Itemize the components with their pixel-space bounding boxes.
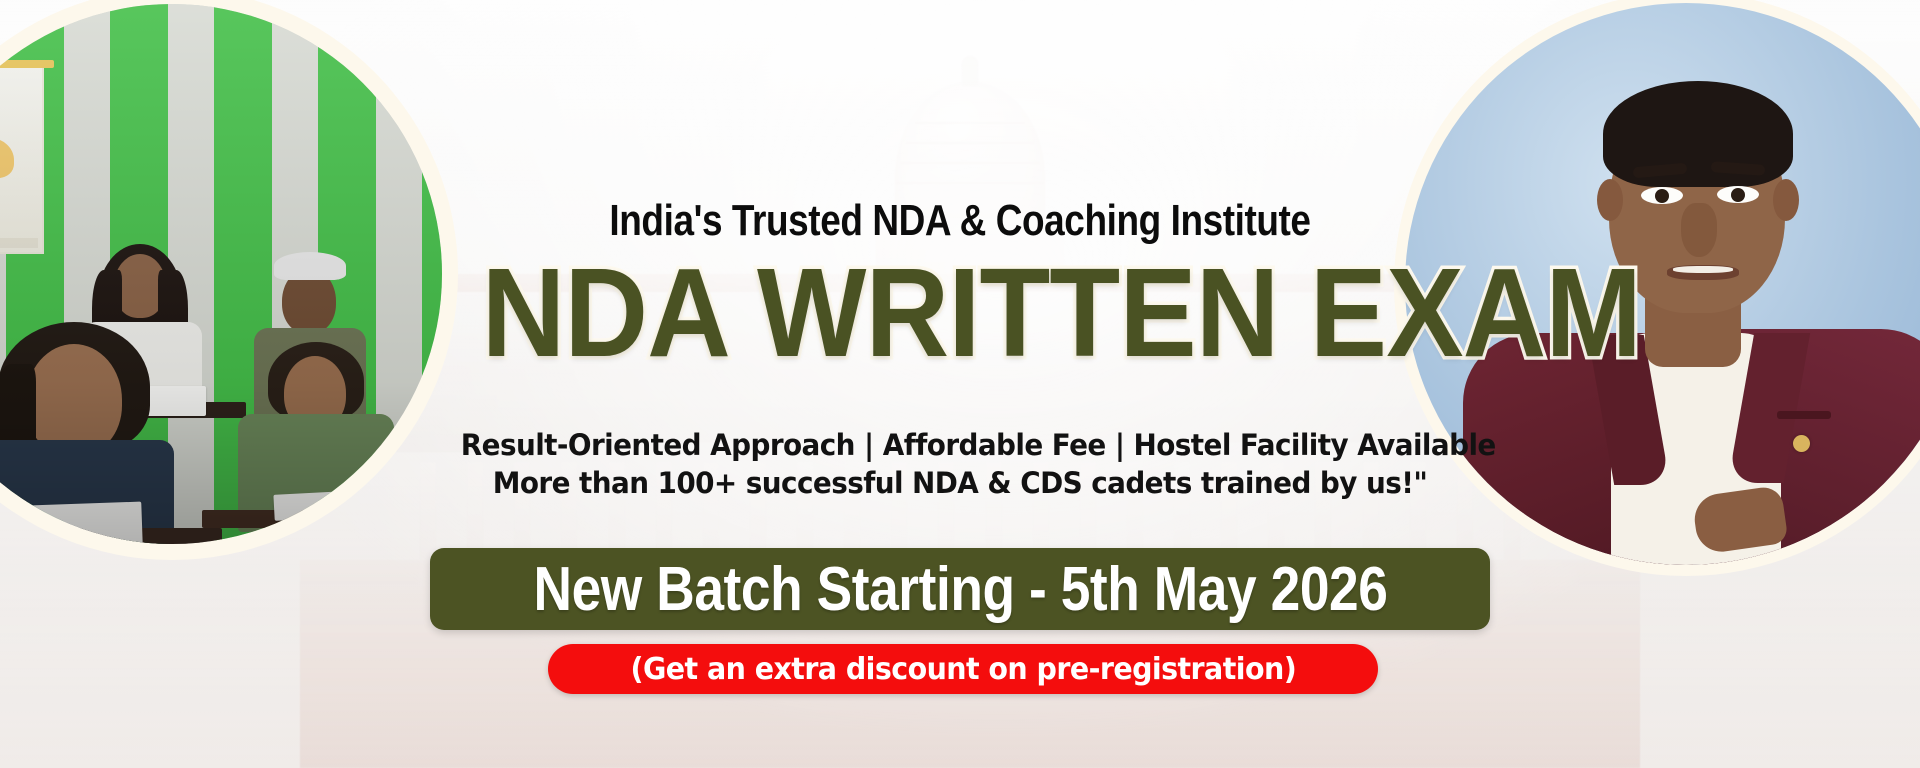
subtitle-line-2: More than 100+ successful NDA & CDS cade… bbox=[461, 466, 1459, 500]
nda-promo-banner: India's Trusted NDA & Coaching Institute… bbox=[0, 0, 1920, 768]
photo-vignette bbox=[0, 4, 442, 544]
banner-content: India's Trusted NDA & Coaching Institute… bbox=[440, 0, 1480, 768]
lapel-pin-icon bbox=[1793, 435, 1810, 452]
subtitle-line-1: Result-Oriented Approach | Affordable Fe… bbox=[461, 428, 1459, 462]
discount-text: (Get an extra discount on pre-registrati… bbox=[630, 652, 1296, 687]
pre-registration-discount-badge[interactable]: (Get an extra discount on pre-registrati… bbox=[548, 644, 1378, 694]
tagline: India's Trusted NDA & Coaching Institute bbox=[523, 196, 1397, 246]
new-batch-banner: New Batch Starting - 5th May 2026 bbox=[430, 548, 1490, 630]
page-title: NDA WRITTEN EXAM bbox=[482, 250, 1439, 376]
classroom-students-photo bbox=[0, 4, 442, 544]
classroom-photo-circle bbox=[0, 0, 452, 554]
new-batch-text: New Batch Starting - 5th May 2026 bbox=[533, 554, 1387, 625]
